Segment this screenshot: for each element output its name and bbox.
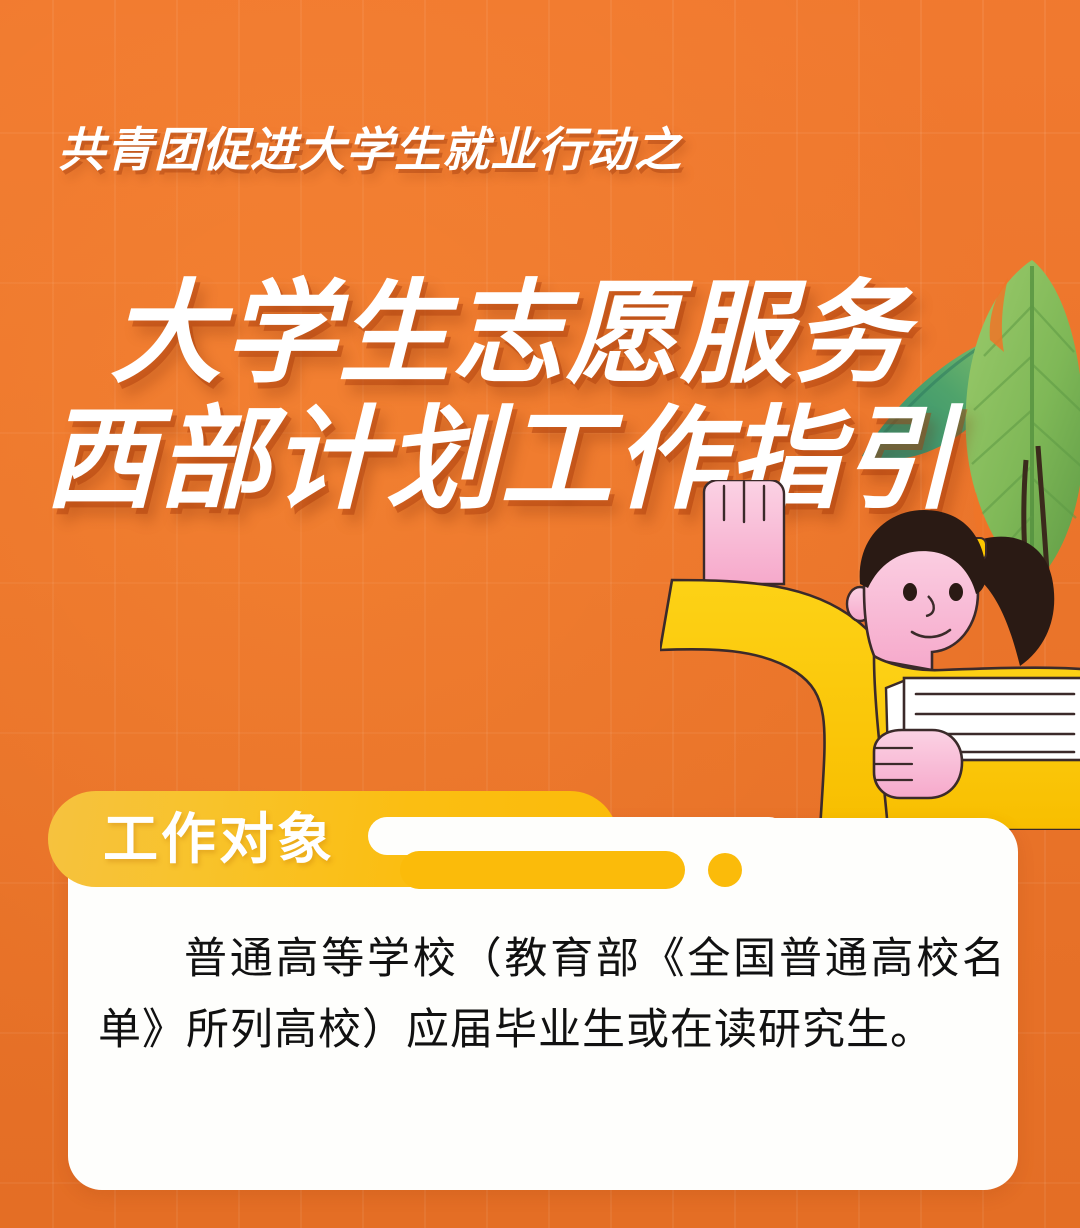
holding-hand	[874, 730, 962, 798]
poster-root: 共青团促进大学生就业行动之 大学生志愿服务 西部计划工作指引	[0, 0, 1080, 1228]
badge-white-bar-decoration	[368, 817, 788, 855]
kicker-text: 共青团促进大学生就业行动之	[58, 126, 682, 173]
badge-yellow-bar-decoration	[400, 851, 685, 889]
student-volunteer-illustration	[660, 480, 1080, 830]
badge-dot-decoration	[708, 853, 742, 887]
section-body-text: 普通高等学校（教育部《全国普通高校名单》所列高校）应届毕业生或在读研究生。	[98, 924, 1006, 1066]
left-eye	[903, 583, 917, 601]
right-eye	[949, 583, 963, 601]
raised-hand	[704, 480, 784, 584]
section-badge-label: 工作对象	[103, 803, 335, 875]
title-line-1: 大学生志愿服务	[110, 278, 908, 390]
section-badge-group: 工作对象	[48, 791, 728, 895]
